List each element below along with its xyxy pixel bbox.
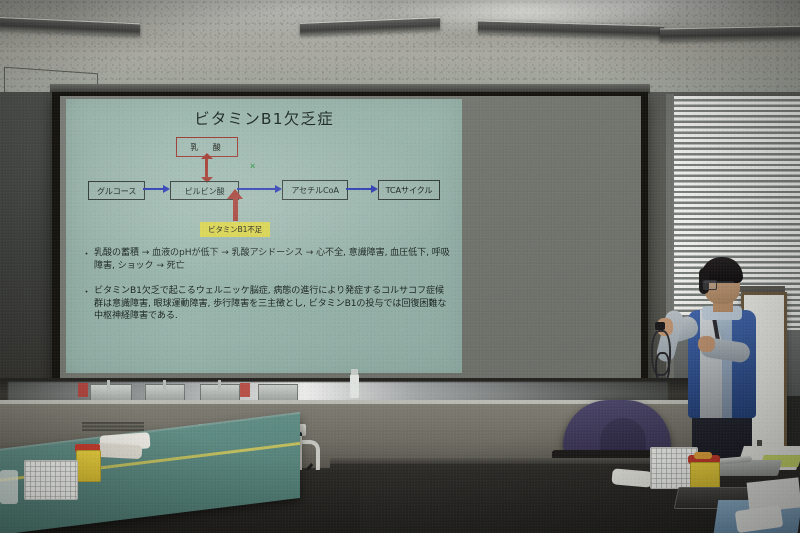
arrow-glucose-to-pyruvate: [143, 188, 165, 190]
b1-arrow-stem: [233, 198, 238, 221]
classroom-presentation-photo: ビタミンB1欠乏症 乳 酸 × グルコース ピルビン酸 アセチルCoA TCAサ…: [0, 0, 800, 533]
red-bottle-1: [78, 383, 88, 397]
paper-towel-2: [96, 443, 143, 459]
faucet-1: [107, 380, 110, 391]
arrow-head-pyruvate-to-acetylcoa: [275, 185, 282, 193]
bullet-text: ビタミンB1欠乏で起こるウェルニッケ脳症, 病態の進行により発症するコルサコフ症…: [94, 285, 450, 323]
wire-basket-left: [24, 460, 78, 500]
cabinet-vent: [82, 422, 144, 431]
slide-title: ビタミンB1欠乏症: [66, 107, 462, 129]
presentation-remote: [655, 322, 665, 330]
arrow-head-acetylcoa-to-tca: [371, 185, 378, 193]
diagram-box-b1-deficiency: ビタミンB1不足: [200, 222, 270, 237]
sharps-container-cap-right: [694, 452, 712, 459]
ceiling-light-fixture-4: [660, 26, 800, 42]
list-item: ・ 乳酸の蓄積 → 血液のpHが低下 → 乳酸アシドーシス → 心不全, 意識障…: [82, 247, 450, 272]
clear-bottle: [0, 470, 18, 504]
red-bottle-2: [240, 383, 250, 397]
lactate-arrow-stem: [205, 157, 208, 179]
presenter-right-hand: [698, 336, 715, 352]
diagram-box-glucose: グルコース: [88, 181, 145, 200]
slide-bullet-list: ・ 乳酸の蓄積 → 血液のpHが低下 → 乳酸アシドーシス → 心不全, 意識障…: [82, 247, 450, 336]
soap-dispenser-pump: [351, 369, 358, 375]
projected-slide: ビタミンB1欠乏症 乳 酸 × グルコース ピルビン酸 アセチルCoA TCAサ…: [66, 99, 462, 373]
diagram-box-tca-cycle: TCAサイクル: [378, 180, 440, 200]
faucet-3: [218, 380, 221, 391]
diagram-box-acetyl-coa: アセチルCoA: [282, 180, 348, 200]
arrow-acetylcoa-to-tca: [346, 188, 373, 190]
bullet-marker: ・: [82, 247, 94, 272]
paper-towel-right: [611, 468, 652, 487]
bullet-text: 乳酸の蓄積 → 血液のpHが低下 → 乳酸アシドーシス → 心不全, 意識障害,…: [94, 247, 450, 272]
lanyard-cord-2: [655, 352, 670, 382]
eyeglasses-lens-icon: [703, 280, 717, 290]
arrow-pyruvate-to-acetylcoa: [237, 188, 277, 190]
arrow-head-glucose-to-pyruvate: [163, 185, 170, 193]
faucet-2: [163, 380, 166, 391]
list-item: ・ ビタミンB1欠乏で起こるウェルニッケ脳症, 病態の進行により発症するコルサコ…: [82, 285, 450, 323]
soap-dispenser: [350, 374, 359, 398]
bullet-marker: ・: [82, 285, 94, 323]
blocked-marker-icon: ×: [250, 161, 255, 171]
sharps-container-left: [76, 450, 101, 482]
